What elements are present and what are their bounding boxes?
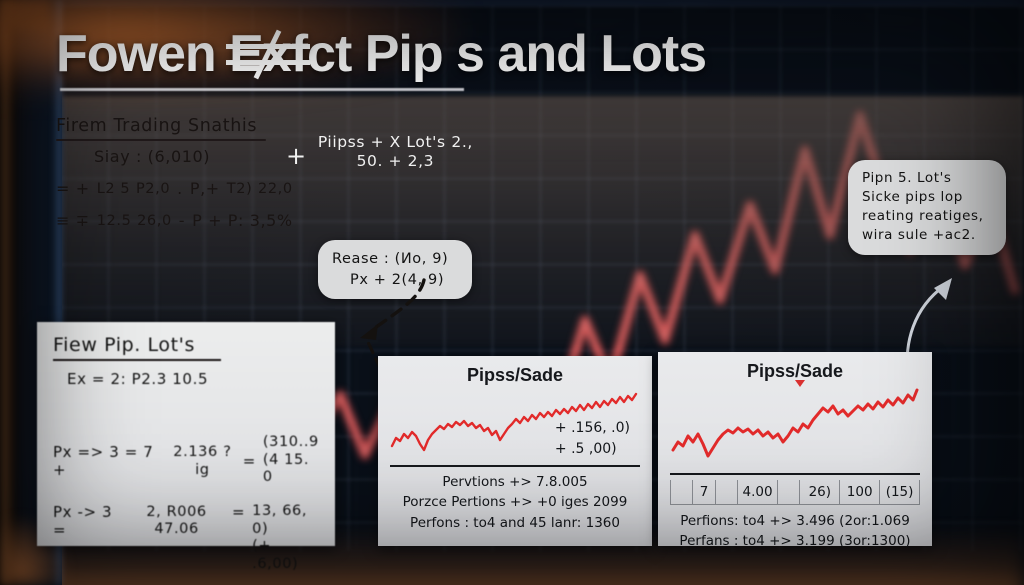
panel-mid-spark-label-1: + .156, .0) [555,418,630,439]
panel-right-cell-4 [778,480,800,504]
panel-mid-sparkline: + .156, .0) + .5 ,00) [390,388,640,462]
panel-mid-divider [390,465,640,467]
panel-right-divider [670,473,920,475]
row2-mid: - [179,211,185,230]
panel-pip-lots: Fiew Pip. Lot's Ex = 2: P2.3 10.5 Px => … [37,322,335,546]
formula-top-mid-numerator: Piipss + X Lot's [318,133,446,151]
panel-mid-line-2: Porzce Pertions +> +0 iges 2099 [390,492,640,512]
formula-top-left-heading: Firem Trading Snathis [56,116,306,136]
panel-left-heading: Fiew Pip. Lot's [53,334,319,356]
panel-left-row-1-result: (310..9 (4 15. 0 [263,434,319,487]
row2-fraction: 12.5 26,0 [97,211,172,229]
panel-right-marker-icon [795,380,805,387]
panel-right-title: Pipss/Sade [670,361,920,382]
row1-right-denominator: 22,0 [258,181,293,197]
row2-denominator: 26,0 [137,213,172,229]
title-part-2: ct Pip s and Lots [307,25,706,83]
panel-mid-spark-labels: + .156, .0) + .5 ,00) [555,418,630,460]
panel-right-stats: Perfions: to4 +> 3.496 (2or:1.069 Perfan… [670,511,920,552]
panel-left-row-1-numerator: 2.136 [173,444,218,460]
page-title: Fowen Exfct Pip s and Lots [56,24,706,84]
row1-lead: = + [56,179,90,198]
panel-left-row-1-result-top: (310..9 [263,434,319,452]
row1-numerator: L2 5 [97,181,131,197]
panel-right-cell-0 [671,480,693,504]
formula-top-left-row1: = + L2 5 P2,0 . P,+ T2) 22,0 [56,179,306,198]
panel-left-row-2-result-top: 13, 66, 0) [252,503,319,538]
panel-right-line-1: Perfions: to4 +> 3.496 (2or:1.069 [670,511,920,531]
panel-pipss-sade-right: Pipss/Sade 7 4.00 26) 100 (15) Perfions:… [658,352,932,546]
title-underline [60,88,464,91]
formula-top-left-rule [56,139,266,141]
panel-right-cells-row: 7 4.00 26) 100 (15) [670,480,920,505]
panel-mid-stats: Pervtions +> 7.8.005 Porzce Pertions +> … [390,472,640,533]
row2-right: P + P: 3,5% [192,211,293,230]
callout-right: Pipn 5. Lot's Sicke pips lop reating rea… [848,160,1006,255]
callout-right-line-3: reating reatiges, [862,207,992,226]
panel-right-cell-5: 26) [800,480,840,504]
panel-left-row-2-numerator: 2, R006 [146,504,206,520]
row2-lead: ≡ ∓ [56,211,90,230]
panel-left-row-2-denominator: 47.06 [154,521,199,537]
formula-top-left: Firem Trading Snathis Siay : (6,010) = +… [56,116,306,230]
panel-left-row-1: Px => 3 = 7 + 2.136 ?ig = (310..9 (4 15.… [53,434,319,487]
panel-left-row-1-equals: = [243,452,256,470]
panel-mid-line-3: Perfons : to4 and 45 lanr: 1360 [390,513,640,533]
dashed-arrow-icon [320,272,440,368]
formula-top-mid-plus: + [286,144,307,168]
formula-top-left-subline: Siay : (6,010) [56,147,306,166]
panel-right-cell-7: (15) [880,480,919,504]
formula-top-mid-fraction: Piipss + X Lot's 2., 50. + 2,3 [315,132,476,170]
callout-right-line-1: Pipn 5. Lot's [862,169,992,188]
panel-right-cell-3: 4.00 [738,480,778,504]
panel-pipss-sade-mid: Pipss/Sade + .156, .0) + .5 ,00) Pervtio… [378,356,652,546]
title-struck-text: Exf [229,24,307,84]
title-part-1: Fowen [56,25,229,83]
row1-mid: . [177,179,183,198]
row1-right-lead: P,+ [190,179,220,198]
row1-right-fraction: T2) 22,0 [227,179,293,197]
panel-right-cell-6: 100 [840,480,880,504]
row1-right-numerator: T2) [227,181,253,197]
row1-denominator: P2,0 [136,181,170,197]
panel-right-cell-1: 7 [693,480,715,504]
panel-left-row-2: Px -> 3 = 2, R006 47.06 = 13, 66, 0) (+ … [53,503,319,574]
panel-right-line-2: Perfans : to4 +> 3.199 (3or:1300) [670,531,920,551]
callout-middle-line-1: Rease : (Ио, 9) [332,249,458,270]
panel-left-row-1-fraction: 2.136 ?ig [169,443,236,477]
panel-left-row-1-result-bottom: (4 15. 0 [263,452,319,487]
panel-mid-title: Pipss/Sade [390,365,640,386]
screenshot-stage: Fowen Exfct Pip s and Lots Firem Trading… [0,0,1024,585]
panel-left-row-2-equals: = [232,503,245,521]
panel-mid-line-1: Pervtions +> 7.8.005 [390,472,640,492]
callout-right-line-4: wira sule +ac2. [862,226,992,245]
panel-left-row-1-lead: Px => 3 = 7 + [53,443,162,479]
formula-top-left-row2: ≡ ∓ 12.5 26,0 - P + P: 3,5% [56,211,306,230]
panel-left-row-2-lead: Px -> 3 = [53,503,121,539]
panel-left-example: Ex = 2: P2.3 10.5 [53,370,319,388]
panel-right-sparkline [670,384,920,470]
panel-right-cell-2 [716,480,738,504]
row1-fraction: L2 5 P2,0 [97,179,170,197]
panel-left-row-2-result-bottom: (+ .6,00) [252,538,319,573]
formula-top-mid: + Piipss + X Lot's 2., 50. + 2,3 [286,132,476,170]
panel-left-heading-rule [53,359,221,361]
row2-numerator: 12.5 [97,213,132,229]
panel-mid-spark-label-2: + .5 ,00) [555,439,630,460]
panel-left-row-2-fraction: 2, R006 47.06 [128,503,225,537]
callout-right-line-2: Sicke pips lop [862,188,992,207]
panel-left-row-2-result: 13, 66, 0) (+ .6,00) [252,503,319,574]
